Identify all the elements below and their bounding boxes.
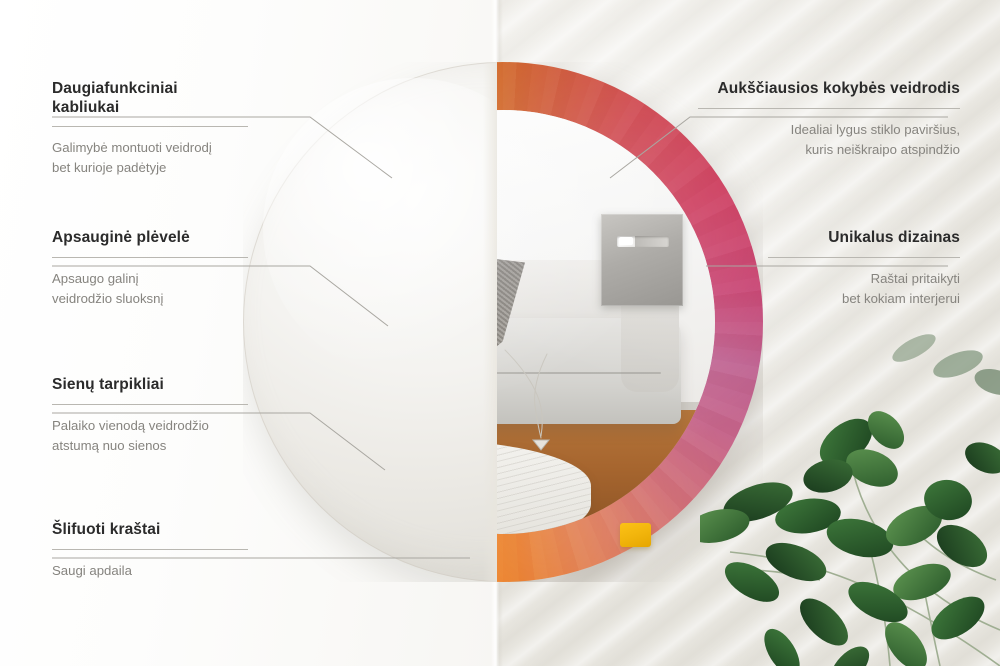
wall-spacer-part: [620, 523, 651, 547]
callout-desc-line2: bet kurioje padėtyje: [52, 158, 248, 178]
callout-title: Šlifuoti kraštai: [52, 521, 248, 540]
callout-desc-line1: Palaiko vienodą veidrodžio: [52, 416, 248, 436]
infographic-canvas: Daugiafunkciniai kabliukai Galimybė mont…: [0, 0, 1000, 666]
callout-rule: [52, 404, 248, 405]
callout-desc-line2: bet kokiam interjerui: [768, 289, 960, 309]
callout-desc-line1: Saugi apdaila: [52, 561, 248, 581]
callout-polished-edges: Šlifuoti kraštai Saugi apdaila: [52, 521, 248, 581]
round-mirror: [243, 62, 763, 582]
callout-desc-line1: Galimybė montuoti veidrodį: [52, 138, 248, 158]
callout-wall-spacers: Sienų tarpikliai Palaiko vienodą veidrod…: [52, 376, 248, 456]
callout-title: Apsauginė plėvelė: [52, 229, 248, 248]
callout-desc-line2: atstumą nuo sienos: [52, 436, 248, 456]
callout-title: Daugiafunkciniai kabliukai: [52, 80, 248, 117]
callout-rule: [768, 257, 960, 258]
callout-title: Unikalus dizainas: [768, 229, 960, 248]
callout-desc-line1: Idealiai lygus stiklo paviršius,: [698, 120, 960, 140]
callout-desc-line2: veidrodžio sluoksnį: [52, 289, 248, 309]
callout-desc-line2: kuris neiškraipo atspindžio: [698, 140, 960, 160]
hook-keyhole-slot: [617, 236, 669, 247]
callout-rule: [52, 549, 248, 550]
callout-rule: [52, 257, 248, 258]
callout-title: Sienų tarpikliai: [52, 376, 248, 395]
callout-rule: [698, 108, 960, 109]
plant-leaves: [700, 330, 1000, 666]
mounting-hook-part: [601, 214, 683, 306]
callout-rule: [52, 126, 248, 127]
callout-hooks: Daugiafunkciniai kabliukai Galimybė mont…: [52, 80, 248, 178]
decorative-plant: [700, 330, 1000, 666]
callout-quality-mirror: Aukščiausios kokybės veidrodis Idealiai …: [698, 80, 960, 160]
callout-desc-line1: Apsaugo galinį: [52, 269, 248, 289]
callout-protective-film: Apsauginė plėvelė Apsaugo galinį veidrod…: [52, 229, 248, 309]
callout-desc-line1: Raštai pritaikyti: [768, 269, 960, 289]
callout-unique-design: Unikalus dizainas Raštai pritaikyti bet …: [768, 229, 960, 309]
callout-title: Aukščiausios kokybės veidrodis: [698, 80, 960, 99]
